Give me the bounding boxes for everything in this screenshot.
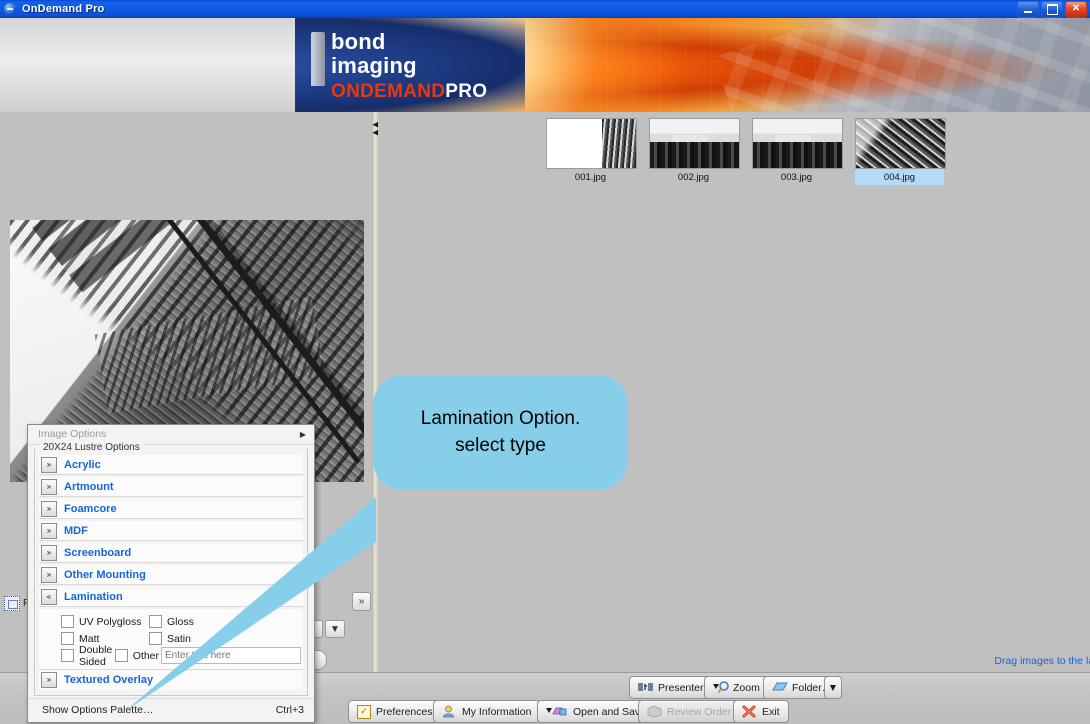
- show-options-palette-label: Show Options Palette…: [42, 704, 153, 716]
- checkbox-double-sided[interactable]: Double Sided: [61, 644, 115, 668]
- collapse-icon[interactable]: «: [41, 589, 57, 605]
- lamination-options: UV Polygloss Gloss Matt: [39, 609, 303, 670]
- checkbox-icon[interactable]: [149, 615, 162, 628]
- folder-dropdown-button[interactable]: ▼: [824, 676, 842, 699]
- thumbnail-item[interactable]: 001.jpg: [546, 118, 635, 185]
- window-controls: ✕: [1017, 1, 1090, 18]
- thumbnail-image[interactable]: [855, 118, 946, 169]
- callout-line-2: select type: [455, 433, 546, 459]
- thumbnail-item[interactable]: 003.jpg: [752, 118, 841, 185]
- presenter-label: Presenter: [658, 682, 704, 694]
- checkbox-label: Gloss: [167, 616, 194, 628]
- review-order-button: Review Order: [638, 700, 740, 723]
- folder-icon: [772, 681, 787, 694]
- brand-banner: bond imaging ONDEMANDPRO: [0, 18, 1090, 112]
- brand-logo: bond imaging ONDEMANDPRO: [331, 31, 487, 101]
- open-save-icon: [546, 705, 568, 718]
- preferences-icon: ✓: [357, 705, 371, 719]
- expand-icon[interactable]: »: [41, 479, 57, 495]
- exit-icon: [742, 705, 757, 718]
- brand-ondemand: ONDEMAND: [331, 81, 445, 102]
- checkbox-label: Other: [133, 650, 159, 662]
- checkbox-satin[interactable]: Satin: [149, 632, 211, 645]
- thumbnail-label: 004.jpg: [855, 169, 944, 185]
- thumbnail-image[interactable]: [752, 118, 843, 169]
- chevron-down-icon: ▼: [828, 682, 838, 694]
- callout-content: Lamination Option. select type: [373, 375, 628, 490]
- checkbox-icon[interactable]: [149, 632, 162, 645]
- other-lamination-input[interactable]: [161, 647, 301, 664]
- checkbox-icon[interactable]: [61, 615, 74, 628]
- callout-tail: [108, 367, 388, 612]
- preferences-label: Preferences: [376, 706, 433, 718]
- expand-icon[interactable]: »: [41, 545, 57, 561]
- show-options-palette-shortcut: Ctrl+3: [276, 704, 304, 716]
- review-order-label: Review Order: [667, 706, 731, 718]
- expand-icon[interactable]: »: [41, 567, 57, 583]
- window-title: OnDemand Pro: [22, 3, 104, 15]
- option-label: MDF: [64, 525, 88, 537]
- expand-icon[interactable]: »: [41, 672, 57, 688]
- application-window: OnDemand Pro ✕ bond imaging ONDEMANDPRO: [0, 0, 1090, 723]
- crop-icon: [4, 596, 20, 611]
- presenter-button[interactable]: Presenter: [629, 676, 713, 699]
- checkbox-label: Satin: [167, 633, 191, 645]
- zoom-icon: [713, 681, 728, 694]
- presenter-icon: [638, 681, 653, 694]
- title-bar: OnDemand Pro ✕: [0, 0, 1090, 18]
- palette-header-label: Image Options: [38, 428, 106, 440]
- thumbnail-item-selected[interactable]: 004.jpg: [855, 118, 944, 185]
- thumbnail-item[interactable]: 002.jpg: [649, 118, 738, 185]
- user-icon: [442, 705, 457, 718]
- thumbnail-label: 001.jpg: [546, 169, 635, 185]
- option-label: Artmount: [64, 481, 114, 493]
- zoom-button[interactable]: Zoom: [704, 676, 769, 699]
- checkbox-icon[interactable]: [61, 649, 74, 662]
- review-order-icon: [647, 705, 662, 718]
- checkbox-uv-polygloss[interactable]: UV Polygloss: [61, 615, 149, 628]
- banner-artwork: bond imaging ONDEMANDPRO: [295, 18, 1090, 112]
- brand-line-2: imaging: [331, 55, 487, 77]
- preferences-button[interactable]: ✓ Preferences: [348, 700, 442, 723]
- thumbnail-strip: 001.jpg 002.jpg 003.jpg 004.jpg: [546, 118, 944, 185]
- status-message: Drag images to the layout to crop. 4 ima…: [756, 655, 1090, 667]
- status-area: 101010 Drag images to the layout to crop…: [756, 642, 1090, 667]
- palette-footer[interactable]: Show Options Palette… Ctrl+3: [28, 698, 314, 722]
- thumbnail-label: 003.jpg: [752, 169, 841, 185]
- checkbox-gloss[interactable]: Gloss: [149, 615, 211, 628]
- brand-line-1: bond: [331, 31, 487, 53]
- exit-label: Exit: [762, 706, 780, 718]
- my-information-button[interactable]: My Information: [433, 700, 540, 723]
- maximize-button[interactable]: [1041, 1, 1063, 18]
- minimize-button[interactable]: [1017, 1, 1039, 18]
- callout-line-1: Lamination Option.: [421, 406, 581, 432]
- logo-mark: [311, 32, 325, 86]
- expand-icon[interactable]: »: [41, 457, 57, 473]
- expand-icon[interactable]: »: [41, 523, 57, 539]
- brand-product: ONDEMANDPRO: [331, 82, 487, 101]
- zoom-label: Zoom: [733, 682, 760, 694]
- chevron-down-icon: ▼: [330, 624, 340, 635]
- open-and-save-label: Open and Save: [573, 706, 646, 718]
- thumbnail-label: 002.jpg: [649, 169, 738, 185]
- brand-pro: PRO: [445, 81, 487, 102]
- thumbnail-image[interactable]: [649, 118, 740, 169]
- close-icon[interactable]: ✕: [1065, 1, 1087, 18]
- option-label: Acrylic: [64, 459, 101, 471]
- checkbox-label: Double Sided: [79, 644, 115, 668]
- my-information-label: My Information: [462, 706, 531, 718]
- checkbox-label: UV Polygloss: [79, 616, 141, 628]
- expand-icon[interactable]: »: [41, 501, 57, 517]
- lamination-row: Double Sided Other: [61, 647, 301, 664]
- exit-button[interactable]: Exit: [733, 700, 789, 723]
- order-id: 101010: [756, 642, 1090, 654]
- size-dropdown-button[interactable]: ▼: [325, 620, 345, 638]
- option-label: Textured Overlay: [64, 674, 153, 686]
- workspace: P » ▼ ◀ ◀ 001.jpg: [0, 112, 1090, 672]
- checkbox-icon[interactable]: [115, 649, 128, 662]
- callout-bubble: Lamination Option. select type: [373, 375, 628, 490]
- checkbox-other[interactable]: Other: [115, 649, 159, 662]
- thumbnail-image[interactable]: [546, 118, 637, 169]
- app-icon: [4, 3, 16, 15]
- crop-tool-indicator[interactable]: P: [4, 596, 30, 611]
